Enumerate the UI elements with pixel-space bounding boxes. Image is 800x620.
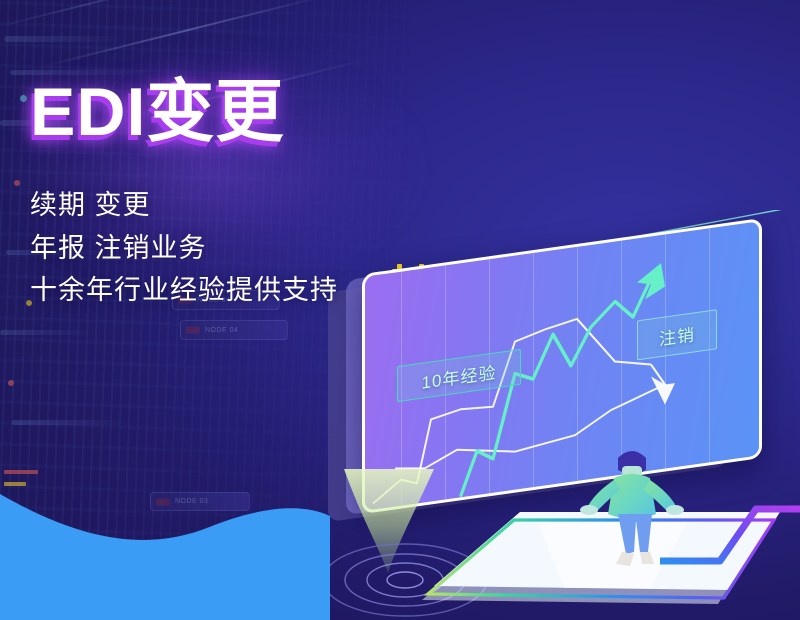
led-dot <box>8 380 14 386</box>
hero-text: EDI变更 续期 变更 年报 注销业务 十余年行业经验提供支持 <box>30 78 500 312</box>
subtitle-line-1: 续期 变更 <box>30 184 500 227</box>
page-title: EDI变更 <box>30 78 500 146</box>
promo-banner: NODE 04 NODE 04 NODE 03 EDI变更 续期 变更 年报 注… <box>0 0 800 620</box>
decorative-wave <box>0 460 330 620</box>
rack-bar <box>12 420 132 425</box>
subtitle-line-2: 年报 注销业务 <box>30 227 500 270</box>
subtitle-line-3: 十余年行业经验提供支持 <box>30 269 500 312</box>
ribbon-path <box>660 465 800 585</box>
subtitle-list: 续期 变更 年报 注销业务 十余年行业经验提供支持 <box>30 184 500 312</box>
